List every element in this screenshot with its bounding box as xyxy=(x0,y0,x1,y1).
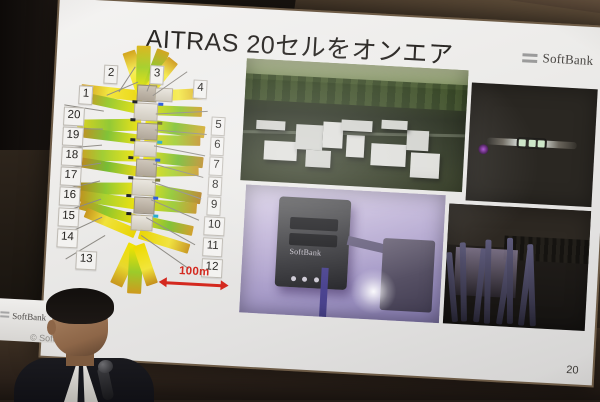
cell-label-6[interactable]: 6 xyxy=(210,136,225,155)
softbank-bars-icon xyxy=(0,311,9,317)
presenter xyxy=(14,292,154,400)
cell-label-20[interactable]: 20 xyxy=(63,106,85,126)
site-block xyxy=(154,87,173,102)
antenna-masts-photo xyxy=(443,203,591,331)
cell-label-10[interactable]: 10 xyxy=(203,216,225,236)
site-block xyxy=(130,214,153,231)
photo-grid: SoftBank xyxy=(233,54,599,335)
cell-label-8[interactable]: 8 xyxy=(207,176,222,195)
night-drone-photo xyxy=(466,83,598,208)
cell-label-3[interactable]: 3 xyxy=(149,65,164,84)
cell-label-15[interactable]: 15 xyxy=(58,207,80,227)
cell-label-2[interactable]: 2 xyxy=(103,65,118,84)
cell-label-7[interactable]: 7 xyxy=(209,156,224,175)
aerial-campus-photo xyxy=(240,58,468,192)
site-block xyxy=(136,122,158,140)
site-block xyxy=(133,102,158,121)
cell-label-1[interactable]: 1 xyxy=(78,85,93,104)
presenter-hair xyxy=(46,288,114,324)
cell-label-18[interactable]: 18 xyxy=(61,146,83,166)
cell-label-9[interactable]: 9 xyxy=(206,196,221,215)
cell-label-14[interactable]: 14 xyxy=(56,228,78,248)
cell-label-4[interactable]: 4 xyxy=(193,79,208,98)
site-block xyxy=(135,158,157,177)
softbank-logo: SoftBank xyxy=(522,49,593,69)
cell-label-19[interactable]: 19 xyxy=(62,126,84,146)
site-block xyxy=(133,140,157,157)
cell-label-11[interactable]: 11 xyxy=(202,237,223,257)
cell-label-5[interactable]: 5 xyxy=(211,116,226,135)
page-number: 20 xyxy=(566,364,579,377)
cell-label-16[interactable]: 16 xyxy=(59,186,81,206)
softbank-logo-text: SoftBank xyxy=(542,50,594,69)
softbank-bars-icon xyxy=(522,53,537,63)
base-station-photo: SoftBank xyxy=(239,184,446,323)
base-station-logo-text: SoftBank xyxy=(289,247,321,258)
cell-coverage-diagram: 1 2 3 4 5 6 7 8 9 10 11 12 20 19 18 17 1… xyxy=(49,46,241,317)
cell-label-17[interactable]: 17 xyxy=(60,166,82,186)
scale-bar: 100m xyxy=(158,264,229,291)
cell-label-13[interactable]: 13 xyxy=(75,250,97,270)
presenter-ear xyxy=(47,320,56,335)
